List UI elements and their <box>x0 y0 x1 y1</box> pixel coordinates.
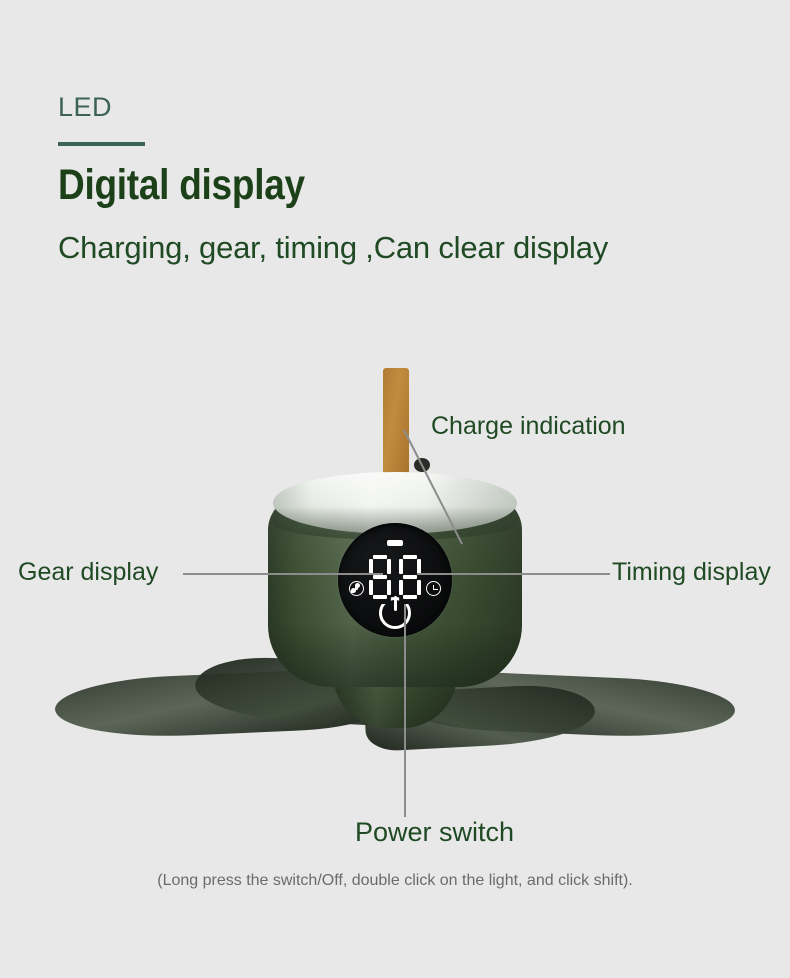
segment-c <box>387 580 391 595</box>
segment-e <box>369 580 373 595</box>
fan-icon <box>349 581 364 596</box>
page-title: Digital display <box>58 163 531 208</box>
segment-a <box>373 555 387 559</box>
segment-c <box>417 580 421 595</box>
callout-power-switch: Power switch <box>355 819 514 846</box>
leader-line-power <box>404 604 406 817</box>
product-infographic-page: LED Digital display Charging, gear, timi… <box>0 0 790 978</box>
callout-gear-display: Gear display <box>18 560 158 585</box>
clock-icon <box>426 581 441 596</box>
segment-f <box>369 559 373 574</box>
led-display-panel <box>338 523 452 637</box>
eyebrow-label: LED <box>58 94 608 121</box>
segment-a <box>403 555 417 559</box>
fan-icon-hub <box>355 587 358 590</box>
power-icon-stem <box>394 596 397 611</box>
digit-ones <box>399 555 421 599</box>
page-subtitle: Charging, gear, timing ,Can clear displa… <box>58 230 608 266</box>
charge-bar-icon <box>387 540 403 546</box>
digit-tens <box>369 555 391 599</box>
segment-g <box>373 575 387 579</box>
segment-b <box>387 559 391 574</box>
seven-segment-digits <box>369 555 421 599</box>
segment-e <box>399 580 403 595</box>
segment-f <box>399 559 403 574</box>
callout-timing-display: Timing display <box>612 560 771 585</box>
segment-b <box>417 559 421 574</box>
eyebrow-rule <box>58 142 145 146</box>
hanging-strap <box>383 368 409 473</box>
footnote-text: (Long press the switch/Off, double click… <box>0 872 790 890</box>
segment-g <box>403 575 417 579</box>
header-block: LED Digital display Charging, gear, timi… <box>58 94 608 266</box>
callout-charge-indication: Charge indication <box>431 414 626 439</box>
power-icon[interactable] <box>379 597 411 629</box>
clock-minute-hand <box>433 589 438 591</box>
leader-line-gear <box>183 573 383 575</box>
fan-body <box>268 472 522 687</box>
leader-line-timing <box>417 573 610 575</box>
